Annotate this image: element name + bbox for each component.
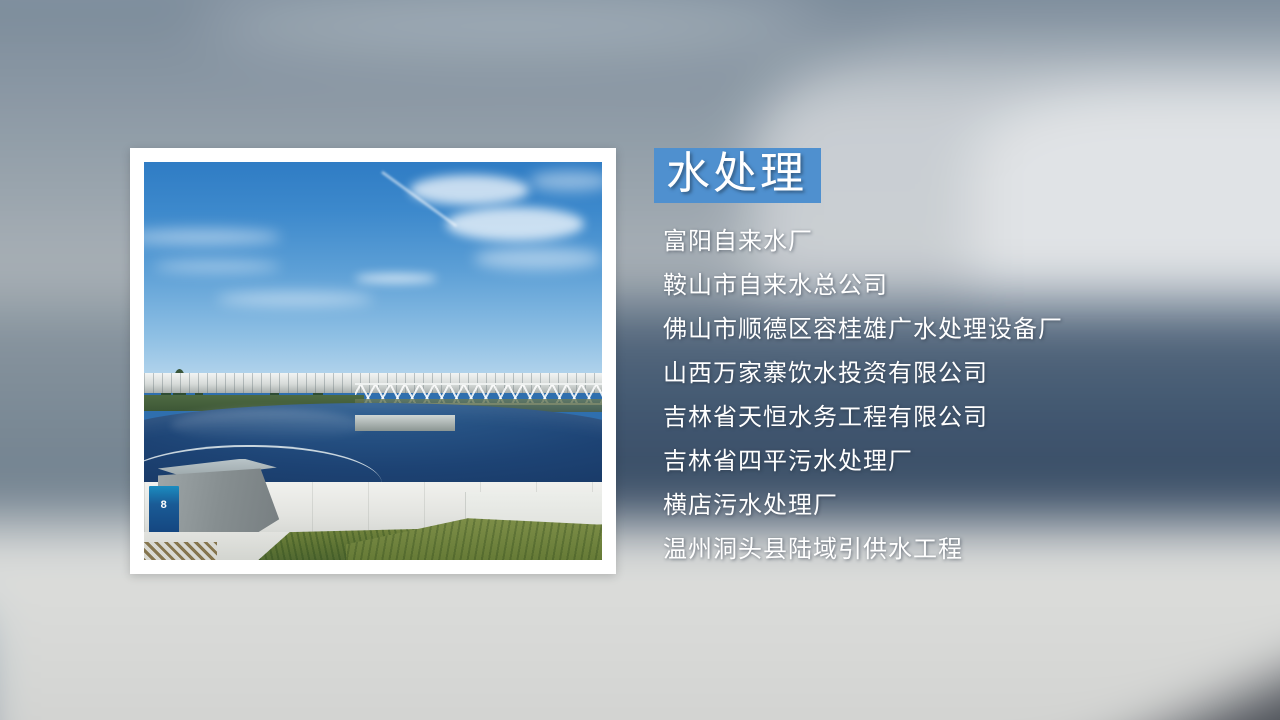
list-item: 山西万家寨饮水投资有限公司 <box>654 361 1254 405</box>
photo-sign-number: 8 <box>161 499 167 511</box>
photo-water-reflection <box>171 409 363 441</box>
photo-card: 8 <box>130 148 616 574</box>
photo-pier <box>355 415 456 431</box>
photo-blue-sign: 8 <box>149 486 179 534</box>
list-item: 横店污水处理厂 <box>654 493 1254 537</box>
photo-drain-grate <box>144 542 217 560</box>
list-item: 吉林省天恒水务工程有限公司 <box>654 405 1254 449</box>
page-title: 水处理 <box>666 152 807 196</box>
list-item: 温州洞头县陆域引供水工程 <box>654 537 1254 581</box>
customer-list: 富阳自来水厂 鞍山市自来水总公司 佛山市顺德区容桂雄广水处理设备厂 山西万家寨饮… <box>654 229 1254 581</box>
list-item: 鞍山市自来水总公司 <box>654 273 1254 317</box>
list-item: 佛山市顺德区容桂雄广水处理设备厂 <box>654 317 1254 361</box>
list-item: 吉林省四平污水处理厂 <box>654 449 1254 493</box>
list-item: 富阳自来水厂 <box>654 229 1254 273</box>
title-highlight-box: 水处理 <box>654 148 821 203</box>
water-treatment-plant-photo: 8 <box>144 162 602 560</box>
content-panel: 水处理 富阳自来水厂 鞍山市自来水总公司 佛山市顺德区容桂雄广水处理设备厂 山西… <box>654 148 1254 581</box>
